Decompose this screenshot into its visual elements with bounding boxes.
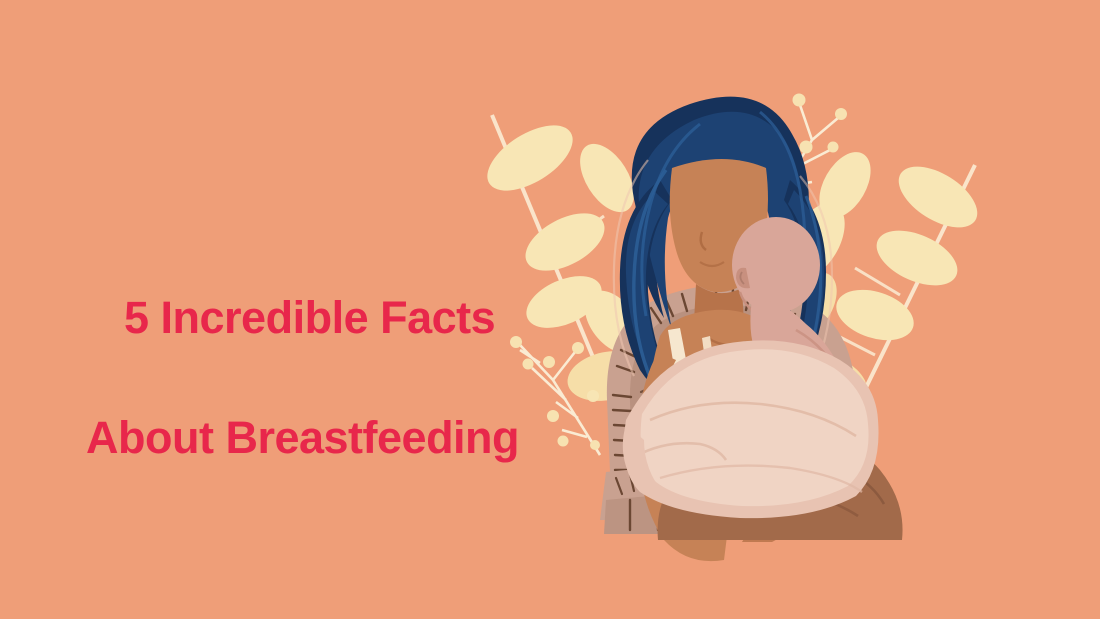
banner-graphic: 5 Incredible Facts About Breastfeeding: [0, 0, 1100, 619]
blanket: [623, 340, 879, 518]
leaf-sprig-right: [753, 143, 987, 471]
mother-hand: [782, 377, 847, 452]
berry-sprig-top-right: [769, 94, 847, 228]
baby: [732, 217, 848, 483]
page-title: 5 Incredible Facts About Breastfeeding: [86, 228, 606, 528]
mother: [614, 97, 904, 562]
headline-line-1: 5 Incredible Facts: [86, 288, 606, 348]
headline-line-2: About Breastfeeding: [86, 408, 606, 468]
wicker-chair: [600, 285, 862, 534]
mother-hair-back: [614, 97, 832, 397]
